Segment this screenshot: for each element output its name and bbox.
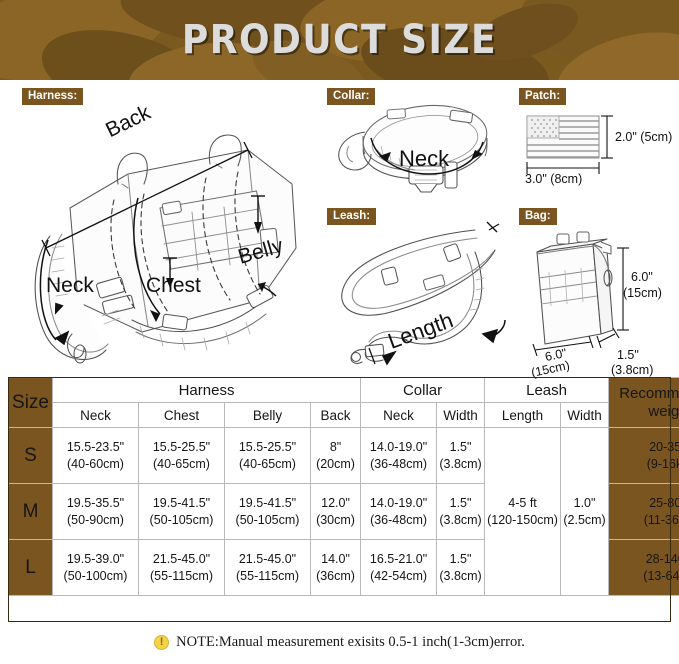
weight-header-line1: Recommended xyxy=(610,385,679,402)
weight-header-line2: weight xyxy=(610,403,679,420)
cell-weight-m: 25-80lb (11-36kg) xyxy=(609,484,679,540)
value-line2: (55-115cm) xyxy=(140,568,223,584)
value-line1: 14.0-19.0" xyxy=(362,495,435,511)
value-line2: (3.8cm) xyxy=(438,456,483,472)
cell-harness-back-l: 14.0" (36cm) xyxy=(311,540,361,596)
bag-height-dimension-line1: 6.0" xyxy=(631,270,653,284)
page-title: PRODUCT SIZE xyxy=(0,0,679,80)
cell-weight-l: 28-140lb (13-64kg) xyxy=(609,540,679,596)
group-header-leash: Leash xyxy=(485,378,609,403)
value-line2: (3.8cm) xyxy=(438,512,483,528)
cell-harness-chest-s: 15.5-25.5" (40-65cm) xyxy=(139,428,225,484)
patch-diagram: Patch: xyxy=(515,88,679,200)
value-line2: (120-150cm) xyxy=(486,512,559,528)
value-line1: 15.5-23.5" xyxy=(54,439,137,455)
row-size-m: M xyxy=(9,484,53,540)
harness-neck-label: Neck xyxy=(46,274,94,298)
size-table-wrapper: Size Harness Collar Leash Recommended we… xyxy=(8,377,671,596)
value-line1: 16.5-21.0" xyxy=(362,551,435,567)
patch-width-dimension: 3.0" (8cm) xyxy=(525,172,582,186)
subheader-collar-neck: Neck xyxy=(361,403,437,428)
subheader-leash-length: Length xyxy=(485,403,561,428)
cell-harness-back-s: 8" (20cm) xyxy=(311,428,361,484)
subheader-harness-back: Back xyxy=(311,403,361,428)
warning-icon: ! xyxy=(154,635,169,650)
harness-diagram: Harness: xyxy=(10,88,320,373)
value-line1: 19.5-35.5" xyxy=(54,495,137,511)
collar-tag: Collar: xyxy=(327,88,375,105)
bag-height-dimension-line2: (15cm) xyxy=(623,286,662,300)
harness-illustration xyxy=(10,88,320,373)
value-line2: (3.8cm) xyxy=(438,568,483,584)
value-line1: 21.5-45.0" xyxy=(226,551,309,567)
value-line2: (55-115cm) xyxy=(226,568,309,584)
diagram-area: Harness: xyxy=(0,80,679,375)
value-line2: (2.5cm) xyxy=(562,512,607,528)
value-line2: (50-105cm) xyxy=(226,512,309,528)
value-line1: 15.5-25.5" xyxy=(140,439,223,455)
harness-tag: Harness: xyxy=(22,88,83,105)
patch-height-dimension: 2.0" (5cm) xyxy=(615,130,672,144)
note-row: ! NOTE:Manual measurement exisits 0.5-1 … xyxy=(0,634,679,651)
table-row: S 15.5-23.5" (40-60cm) 15.5-25.5" (40-65… xyxy=(9,428,679,484)
bag-depth-dimension-line1: 1.5" xyxy=(617,348,639,362)
value-line1: 20-35lb xyxy=(610,439,679,455)
value-line1: 28-140lb xyxy=(610,551,679,567)
subheader-leash-width: Width xyxy=(561,403,609,428)
value-line2: (50-90cm) xyxy=(54,512,137,528)
cell-harness-chest-m: 19.5-41.5" (50-105cm) xyxy=(139,484,225,540)
cell-harness-back-m: 12.0" (30cm) xyxy=(311,484,361,540)
table-subheader-row: Neck Chest Belly Back Neck Width Length … xyxy=(9,403,679,428)
subheader-collar-width: Width xyxy=(437,403,485,428)
value-line2: (30cm) xyxy=(312,512,359,528)
size-table: Size Harness Collar Leash Recommended we… xyxy=(8,377,679,596)
row-size-s: S xyxy=(9,428,53,484)
value-line1: 15.5-25.5" xyxy=(226,439,309,455)
value-line2: (50-100cm) xyxy=(54,568,137,584)
value-line1: 12.0" xyxy=(312,495,359,511)
cell-collar-width-s: 1.5" (3.8cm) xyxy=(437,428,485,484)
value-line2: (36-48cm) xyxy=(362,456,435,472)
cell-collar-neck-l: 16.5-21.0" (42-54cm) xyxy=(361,540,437,596)
recommended-weight-header: Recommended weight xyxy=(609,378,679,428)
cell-leash-width-all: 1.0" (2.5cm) xyxy=(561,428,609,596)
value-line1: 19.5-39.0" xyxy=(54,551,137,567)
harness-chest-label: Chest xyxy=(146,274,201,298)
leash-diagram: Leash: xyxy=(325,208,515,368)
row-size-l: L xyxy=(9,540,53,596)
cell-collar-width-m: 1.5" (3.8cm) xyxy=(437,484,485,540)
bag-depth-dimension-line2: (3.8cm) xyxy=(611,363,653,377)
note-text: NOTE:Manual measurement exisits 0.5-1 in… xyxy=(176,634,525,651)
patch-tag: Patch: xyxy=(519,88,566,105)
value-line1: 1.5" xyxy=(438,551,483,567)
value-line1: 8" xyxy=(312,439,359,455)
cell-harness-neck-m: 19.5-35.5" (50-90cm) xyxy=(53,484,139,540)
value-line2: (36cm) xyxy=(312,568,359,584)
collar-neck-label: Neck xyxy=(399,146,449,172)
value-line1: 19.5-41.5" xyxy=(226,495,309,511)
bag-diagram: Bag: xyxy=(515,208,679,370)
value-line1: 1.5" xyxy=(438,439,483,455)
subheader-harness-belly: Belly xyxy=(225,403,311,428)
value-line2: (9-16kg) xyxy=(610,456,679,472)
value-line1: 1.0" xyxy=(562,495,607,511)
cell-collar-neck-s: 14.0-19.0" (36-48cm) xyxy=(361,428,437,484)
size-column-header: Size xyxy=(9,378,53,428)
cell-harness-belly-l: 21.5-45.0" (55-115cm) xyxy=(225,540,311,596)
value-line1: 1.5" xyxy=(438,495,483,511)
value-line1: 4-5 ft xyxy=(486,495,559,511)
value-line2: (13-64kg) xyxy=(610,568,679,584)
header-banner: PRODUCT SIZE xyxy=(0,0,679,80)
collar-diagram: Collar: xyxy=(325,88,510,203)
cell-collar-width-l: 1.5" (3.8cm) xyxy=(437,540,485,596)
subheader-harness-chest: Chest xyxy=(139,403,225,428)
value-line2: (40-65cm) xyxy=(140,456,223,472)
value-line1: 14.0" xyxy=(312,551,359,567)
value-line2: (50-105cm) xyxy=(140,512,223,528)
cell-harness-neck-l: 19.5-39.0" (50-100cm) xyxy=(53,540,139,596)
subheader-harness-neck: Neck xyxy=(53,403,139,428)
value-line1: 21.5-45.0" xyxy=(140,551,223,567)
value-line1: 14.0-19.0" xyxy=(362,439,435,455)
value-line2: (40-60cm) xyxy=(54,456,137,472)
cell-harness-chest-l: 21.5-45.0" (55-115cm) xyxy=(139,540,225,596)
cell-collar-neck-m: 14.0-19.0" (36-48cm) xyxy=(361,484,437,540)
value-line2: (40-65cm) xyxy=(226,456,309,472)
value-line1: 25-80lb xyxy=(610,495,679,511)
value-line2: (20cm) xyxy=(312,456,359,472)
group-header-harness: Harness xyxy=(53,378,361,403)
cell-harness-neck-s: 15.5-23.5" (40-60cm) xyxy=(53,428,139,484)
value-line2: (11-36kg) xyxy=(610,512,679,528)
value-line2: (36-48cm) xyxy=(362,512,435,528)
leash-tag: Leash: xyxy=(327,208,376,225)
cell-harness-belly-m: 19.5-41.5" (50-105cm) xyxy=(225,484,311,540)
bag-tag: Bag: xyxy=(519,208,557,225)
cell-leash-length-all: 4-5 ft (120-150cm) xyxy=(485,428,561,596)
cell-harness-belly-s: 15.5-25.5" (40-65cm) xyxy=(225,428,311,484)
group-header-collar: Collar xyxy=(361,378,485,403)
table-group-header-row: Size Harness Collar Leash Recommended we… xyxy=(9,378,679,403)
value-line1: 19.5-41.5" xyxy=(140,495,223,511)
cell-weight-s: 20-35lb (9-16kg) xyxy=(609,428,679,484)
value-line2: (42-54cm) xyxy=(362,568,435,584)
